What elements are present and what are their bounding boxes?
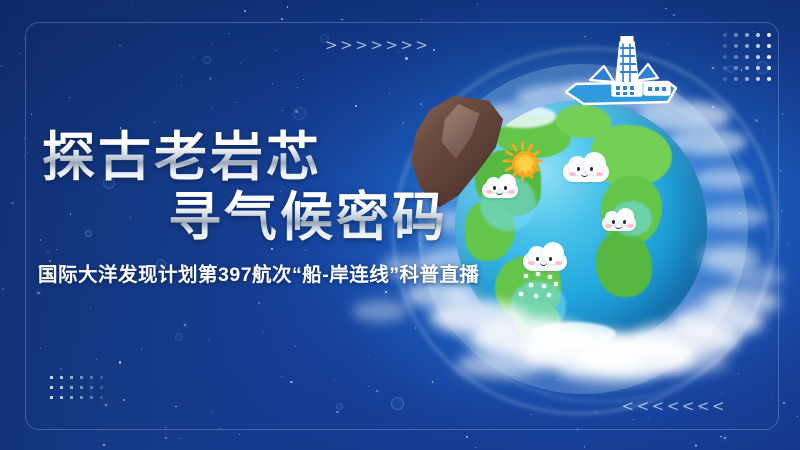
chevron-right-deco: >>>>>>> [325,36,430,54]
page-title-line-2: 寻气候密码 [168,188,470,248]
sun-icon [505,144,539,178]
dot-grid-icon-bottom-left [50,376,110,406]
poster-canvas: >>>>>>> <<<<<<< 探古老岩芯 寻气候密码 国际大洋发现计划第397… [0,0,800,450]
kawaii-cloud-icon [602,208,636,231]
page-subtitle: 国际大洋发现计划第397航次“船-岸连线”科普直播 [38,258,470,287]
dot-grid-icon-top-right [723,33,778,88]
page-title-line-1: 探古老岩芯 [42,128,470,188]
kawaii-cloud-icon [563,152,609,182]
kawaii-cloud-icon [523,242,567,271]
title-block: 探古老岩芯 寻气候密码 国际大洋发现计划第397航次“船-岸连线”科普直播 [0,128,470,287]
kawaii-cloud-icon [482,174,518,198]
drilling-ship-icon [560,36,682,110]
chevron-left-deco: <<<<<<< [622,397,727,415]
